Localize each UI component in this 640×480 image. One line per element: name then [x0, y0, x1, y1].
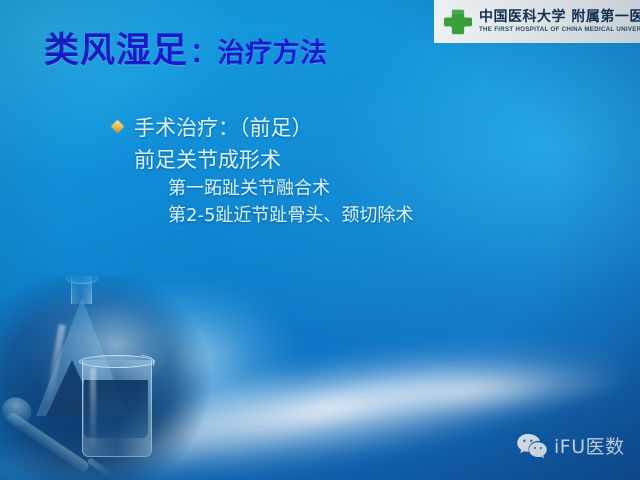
- list-item: 第2-5趾近节趾骨头、颈切除术: [112, 204, 582, 228]
- wechat-watermark: iFU医数: [516, 432, 625, 459]
- watermark-label: iFU医数: [554, 432, 625, 459]
- list-item-label: 手术治疗：（前足）: [134, 116, 313, 140]
- list-item: 手术治疗：（前足）: [112, 114, 582, 142]
- green-cross-icon: [444, 8, 472, 36]
- logo-name-cn: 中国医科大学 附属第一医院: [479, 10, 640, 24]
- logo-text-block: 中国医科大学 附属第一医院 THE FIRST HOSPITAL OF CHIN…: [479, 10, 640, 33]
- page-title-sub: ：治疗方法: [190, 38, 328, 69]
- list-item-label: 前足关节成形术: [134, 148, 281, 172]
- beaker-highlight: [90, 368, 96, 448]
- list-item: 前足关节成形术: [112, 146, 582, 174]
- wechat-icon: [516, 433, 548, 459]
- hospital-logo: 中国医科大学 附属第一医院 THE FIRST HOSPITAL OF CHIN…: [434, 0, 640, 43]
- list-item-label: 第一跖趾关节融合术: [168, 178, 330, 199]
- white-swoosh-tail: [298, 337, 640, 438]
- page-title: 类风湿足：治疗方法: [44, 34, 328, 69]
- list-item: 第一跖趾关节融合术: [112, 177, 582, 201]
- logo-name-en: THE FIRST HOSPITAL OF CHINA MEDICAL UNIV…: [479, 27, 640, 33]
- slide-canvas: 中国医科大学 附属第一医院 THE FIRST HOSPITAL OF CHIN…: [0, 0, 640, 480]
- list-item-label: 第2-5趾近节趾骨头、颈切除术: [168, 205, 413, 226]
- diamond-bullet-icon: [111, 120, 124, 133]
- content-list: 手术治疗：（前足） 前足关节成形术 第一跖趾关节融合术 第2-5趾近节趾骨头、颈…: [112, 114, 582, 228]
- laboratory-glassware-photo: [0, 276, 210, 480]
- page-title-main: 类风湿足: [44, 31, 188, 71]
